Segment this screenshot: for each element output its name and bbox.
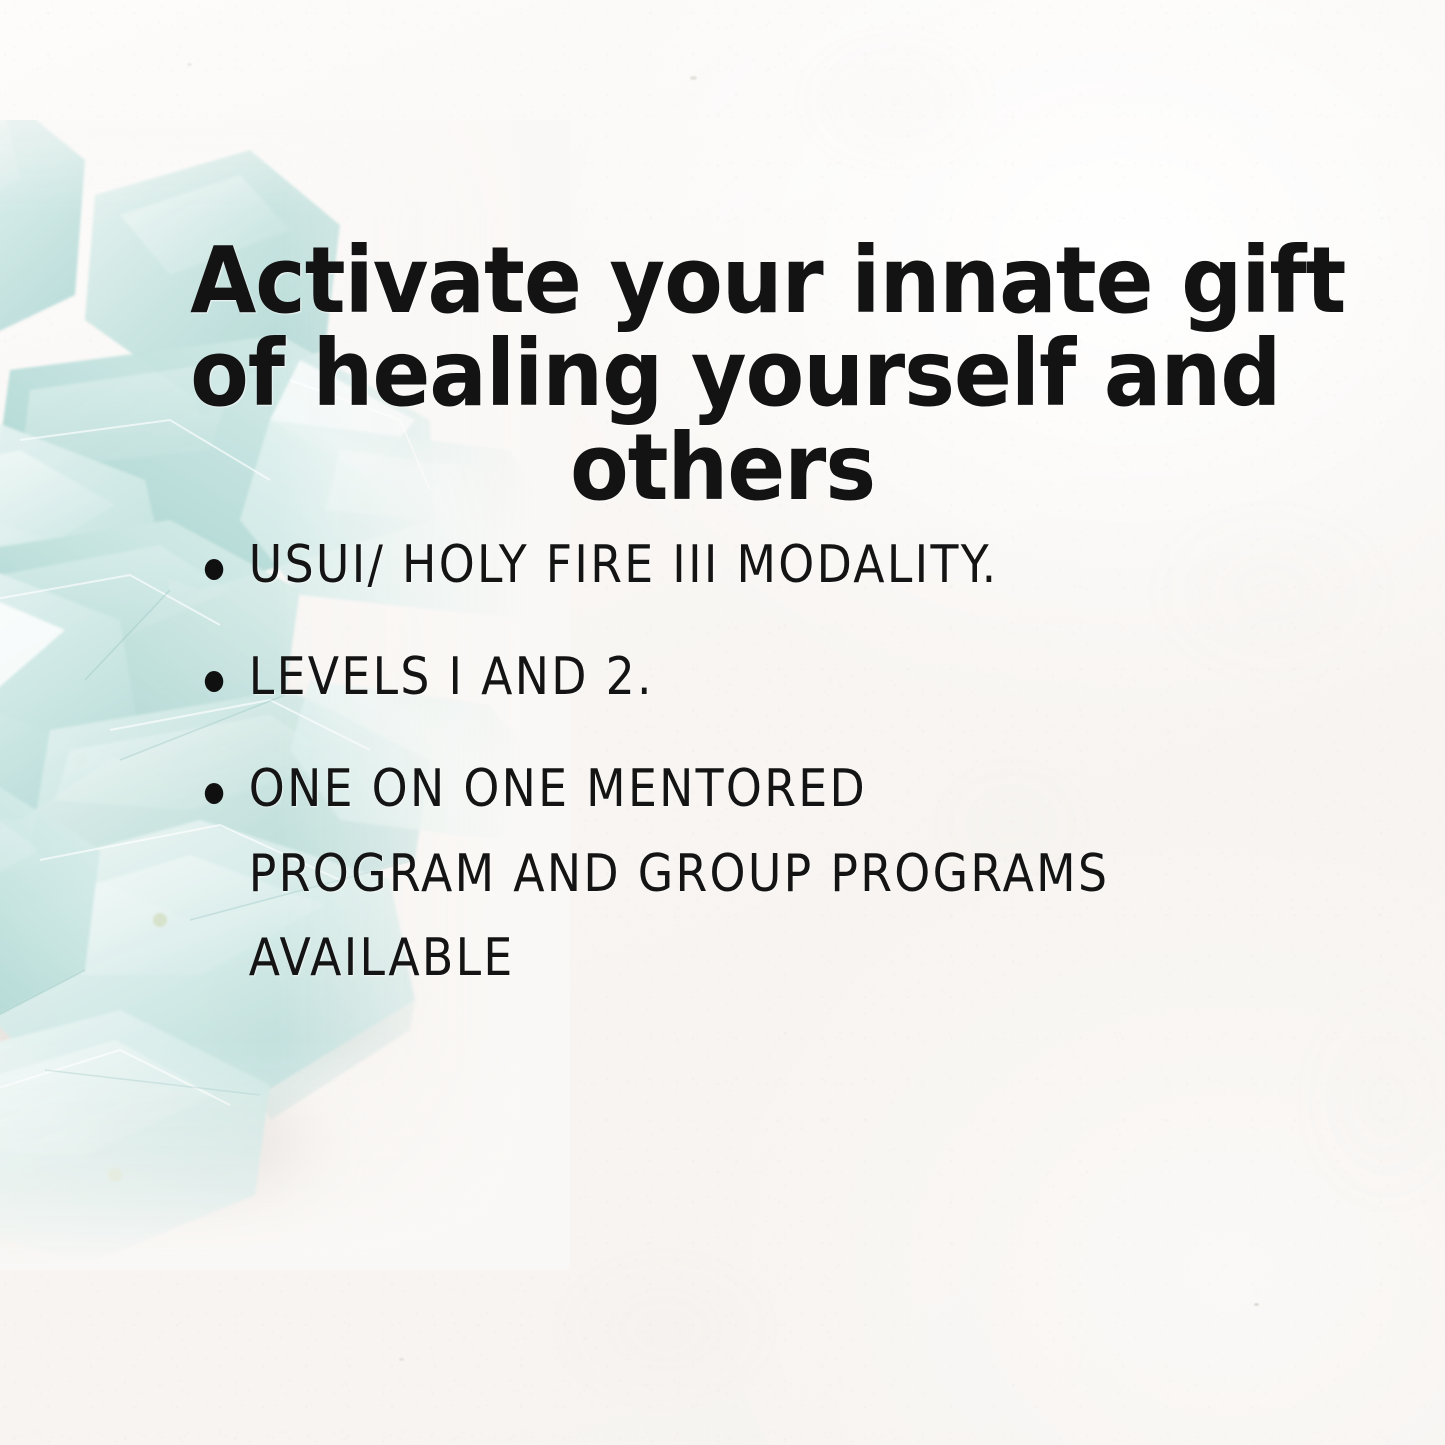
headline-line-3: others — [190, 421, 1255, 515]
promo-graphic-canvas: Activate your innate gift of healing you… — [0, 0, 1445, 1445]
list-item-label: USUI/ HOLY FIRE III MODALITY. — [249, 523, 1129, 607]
headline-line-2: of healing yourself and — [190, 327, 1255, 421]
bullet-dot-icon — [205, 671, 223, 692]
list-item: USUI/ HOLY FIRE III MODALITY. — [196, 523, 1129, 607]
bullet-dot-icon — [205, 559, 223, 580]
list-item: LEVELS I AND 2. — [196, 635, 1129, 719]
headline-line-1: Activate your innate gift — [190, 234, 1255, 328]
list-item-label: ONE ON ONE MENTORED PROGRAM AND GROUP PR… — [249, 747, 1129, 1000]
bullet-dot-icon — [205, 783, 223, 804]
paper-fleck — [690, 76, 697, 80]
paper-fleck — [187, 63, 192, 66]
paper-fleck — [399, 1358, 404, 1361]
page-title: Activate your innate gift of healing you… — [190, 234, 1255, 515]
list-item-label: LEVELS I AND 2. — [249, 635, 1129, 719]
feature-bullet-list: USUI/ HOLY FIRE III MODALITY. LEVELS I A… — [196, 523, 1256, 1000]
list-item: ONE ON ONE MENTORED PROGRAM AND GROUP PR… — [196, 747, 1129, 1000]
paper-fleck — [1254, 1303, 1259, 1306]
